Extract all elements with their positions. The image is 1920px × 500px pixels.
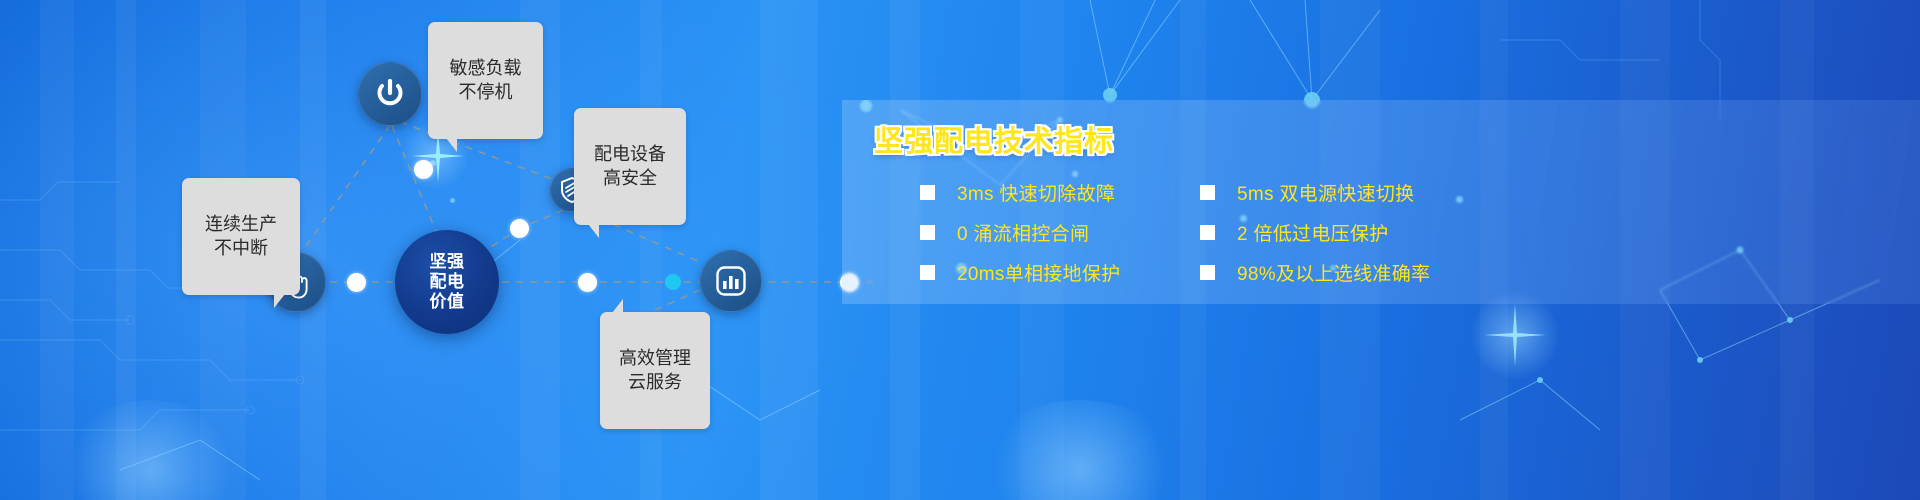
callout-text: 高效管理 云服务 xyxy=(619,348,691,392)
callout-tail xyxy=(612,299,623,313)
spec-text: 5ms 双电源快速切换 xyxy=(1237,179,1414,206)
power-icon xyxy=(373,77,407,111)
bullet-square-icon xyxy=(920,185,935,200)
spec-item: 2 倍低过电压保护 xyxy=(1200,212,1472,252)
callout-tail xyxy=(588,224,599,238)
link-dot-accent xyxy=(665,274,681,290)
callout-sensitive-load[interactable]: 敏感负载 不停机 xyxy=(428,22,543,139)
link-dot xyxy=(414,160,433,179)
spec-list: 3ms 快速切除故障 5ms 双电源快速切换 0 涌流相控合闸 2 倍低过电压保… xyxy=(920,172,1740,292)
callout-text: 连续生产 不中断 xyxy=(205,214,277,258)
callout-text: 敏感负载 不停机 xyxy=(450,58,522,102)
link-dot xyxy=(578,273,597,292)
spec-item: 5ms 双电源快速切换 xyxy=(1200,172,1472,212)
link-dot xyxy=(347,273,366,292)
spec-text: 0 涌流相控合闸 xyxy=(957,219,1089,246)
power-node[interactable] xyxy=(358,62,422,126)
node-graph: 坚强 配电 价值 敏感负载 不停机 配电设备 高安全 连续生产 不中断 高效管理… xyxy=(0,0,880,500)
spec-text: 3ms 快速切除故障 xyxy=(957,179,1115,206)
callout-tail xyxy=(446,138,457,152)
link-dot xyxy=(510,219,529,238)
bullet-square-icon xyxy=(1200,225,1215,240)
spec-text: 20ms单相接地保护 xyxy=(957,259,1120,286)
spec-item: 3ms 快速切除故障 xyxy=(920,172,1192,212)
bullet-square-icon xyxy=(920,225,935,240)
spec-item: 98%及以上选线准确率 xyxy=(1200,252,1472,292)
callout-tail xyxy=(274,294,285,308)
callout-continuous-production[interactable]: 连续生产 不中断 xyxy=(182,178,300,295)
spec-item: 20ms单相接地保护 xyxy=(920,252,1192,292)
spec-item: 0 涌流相控合闸 xyxy=(920,212,1192,252)
bullet-square-icon xyxy=(920,265,935,280)
center-node[interactable]: 坚强 配电 价值 xyxy=(395,230,499,334)
banner-stage: 坚强 配电 价值 敏感负载 不停机 配电设备 高安全 连续生产 不中断 高效管理… xyxy=(0,0,1920,500)
callout-text: 配电设备 高安全 xyxy=(594,144,666,188)
bar-chart-icon xyxy=(715,265,747,297)
bullet-square-icon xyxy=(1200,265,1215,280)
spec-text: 2 倍低过电压保护 xyxy=(1237,219,1389,246)
bullet-square-icon xyxy=(1200,185,1215,200)
spec-text: 98%及以上选线准确率 xyxy=(1237,259,1430,286)
callout-power-equipment[interactable]: 配电设备 高安全 xyxy=(574,108,686,225)
panel-title: 坚强配电技术指标 xyxy=(874,118,1114,160)
chart-node[interactable] xyxy=(700,250,762,312)
sparkle-icon xyxy=(1480,300,1550,370)
center-node-label: 坚强 配电 价值 xyxy=(430,252,465,312)
callout-cloud-management[interactable]: 高效管理 云服务 xyxy=(600,312,710,429)
